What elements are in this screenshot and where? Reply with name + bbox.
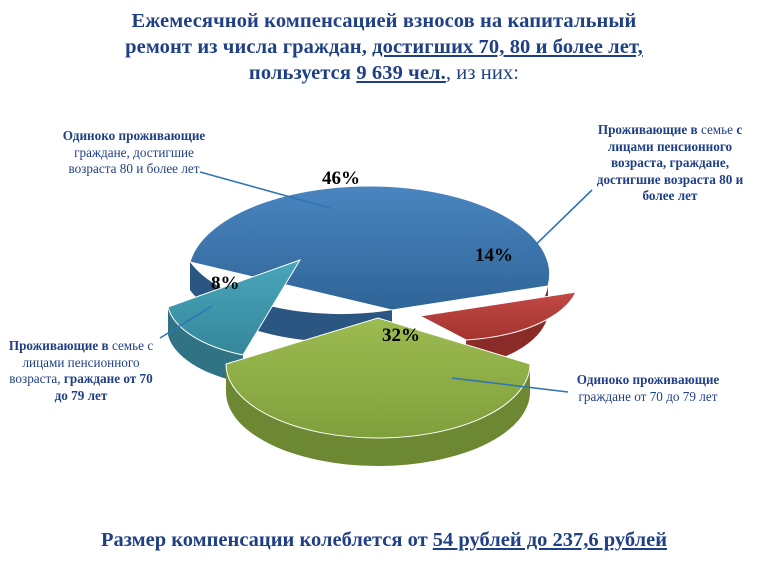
pie-value-teal: 8%: [211, 273, 240, 295]
label-bottom-right: Одиноко проживающие граждане от 70 до 79…: [562, 372, 734, 405]
pie-value-red: 14%: [475, 245, 513, 267]
label-top-right-bold: Проживающие в: [598, 122, 698, 137]
label-top-right-reg: семье: [701, 122, 733, 137]
title-line-2-plain: ремонт из числа граждан,: [125, 36, 372, 58]
label-top-left-bold: Одиноко проживающие: [63, 128, 206, 143]
title-line-3-plain: пользуется: [249, 62, 356, 84]
leader-line-bottom-right: [452, 378, 568, 392]
title-line-2-underlined: достигших 70, 80 и более лет,: [372, 36, 643, 58]
footer-note: Размер компенсации колеблется от 54 рубл…: [10, 529, 758, 552]
label-top-left-rest: граждане, достигшие возраста 80 и более …: [68, 145, 199, 177]
label-bottom-left-reg: семье: [112, 338, 144, 353]
pie-chart: 46% 14% 32% 8% Одиноко проживающие гражд…: [0, 110, 768, 500]
page-title: Ежемесячной компенсацией взносов на капи…: [40, 8, 728, 86]
leader-line-top-right: [520, 190, 592, 260]
leader-line-bottom-left: [160, 306, 212, 338]
title-line-3-tail: , из них:: [446, 62, 519, 84]
label-bottom-left-rest: граждане от 70 до 79 лет: [55, 371, 153, 403]
label-bottom-right-bold: Одиноко проживающие: [577, 372, 720, 387]
footer-text: Размер компенсации колеблется от: [101, 529, 433, 551]
label-top-left: Одиноко проживающие граждане, достигшие …: [60, 128, 208, 178]
leader-line-top-left: [200, 172, 330, 208]
footer-amount: 54 рублей до 237,6 рублей: [433, 529, 667, 551]
label-top-right: Проживающие в семье с лицами пенсионного…: [588, 122, 752, 205]
pie-value-green: 32%: [382, 325, 420, 347]
title-total-count: 9 639 чел.: [356, 62, 446, 84]
label-bottom-left-bold: Проживающие в: [9, 338, 109, 353]
label-bottom-left: Проживающие в семье с лицами пенсионного…: [6, 338, 156, 404]
title-line-1: Ежемесячной компенсацией взносов на капи…: [132, 10, 637, 32]
label-bottom-right-rest: граждане от 70 до 79 лет: [579, 389, 718, 404]
pie-value-blue: 46%: [322, 168, 360, 190]
